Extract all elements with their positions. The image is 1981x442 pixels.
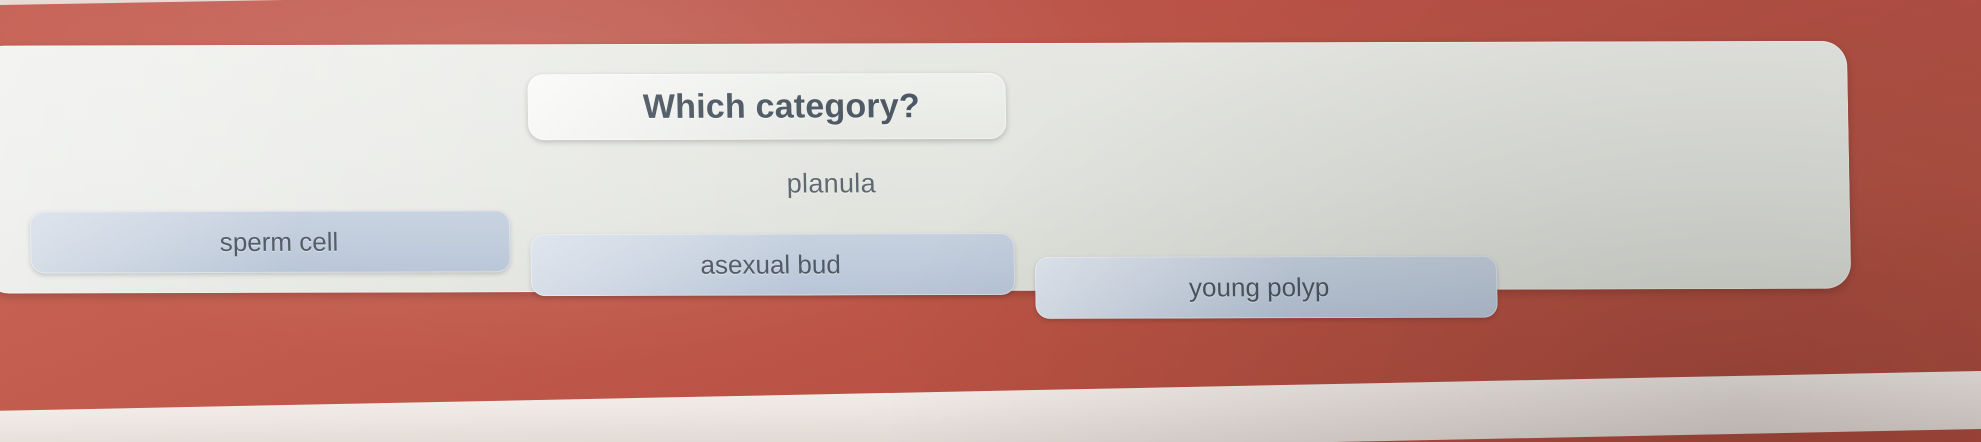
choice-button-asexual-bud[interactable]: asexual bud — [530, 233, 1015, 296]
choice-label: asexual bud — [700, 249, 841, 280]
question-title-pill: Which category? — [527, 73, 1006, 140]
quiz-screen: Which category? planula sperm cell asexu… — [0, 0, 1981, 442]
screen-plane: Which category? planula sperm cell asexu… — [0, 0, 1981, 442]
question-card: Which category? planula sperm cell asexu… — [0, 41, 1851, 294]
choice-label: young polyp — [1189, 272, 1330, 303]
choice-label: sperm cell — [219, 226, 338, 257]
prompt-term: planula — [0, 166, 1682, 201]
choice-button-sperm-cell[interactable]: sperm cell — [30, 210, 511, 273]
choice-button-young-polyp[interactable]: young polyp — [1035, 256, 1498, 319]
page-title: Which category? — [643, 87, 921, 127]
